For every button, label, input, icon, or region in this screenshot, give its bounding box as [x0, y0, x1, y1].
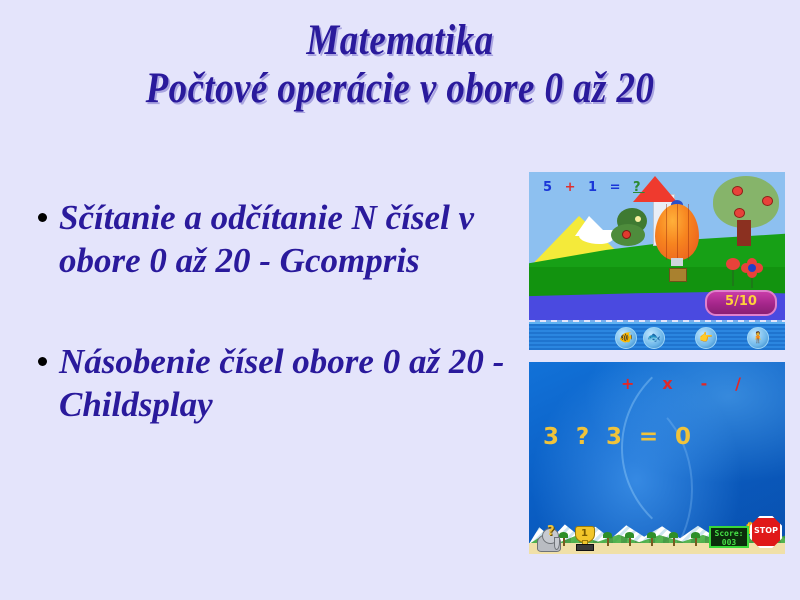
- equation-operand-b: 3: [606, 424, 622, 450]
- equation-operand-a: 5: [543, 180, 556, 195]
- palm-tree-icon: [691, 532, 700, 546]
- operator-multiply[interactable]: x: [662, 374, 672, 393]
- palm-tree-icon: [669, 532, 678, 546]
- equation-operand-b: 1: [588, 180, 601, 195]
- elephant-question-badge: ?: [547, 524, 555, 539]
- gcompris-toolbar[interactable]: 🐠 🐟 👉 🧍: [529, 322, 785, 350]
- bush-berry-icon: [622, 230, 631, 239]
- childsplay-ground-bar: ? 1 ✋ Score: 003 STOP: [529, 516, 785, 554]
- hand-icon[interactable]: 👉: [695, 327, 717, 349]
- equation-operator-slot[interactable]: ?: [576, 424, 589, 450]
- palm-tree-icon: [625, 532, 634, 546]
- hot-air-balloon-icon: [655, 204, 699, 260]
- apple-icon: [734, 208, 745, 218]
- title-line-1: Matematika: [56, 18, 744, 64]
- slide-title: Matematika Počtové operácie v obore 0 až…: [0, 18, 800, 111]
- bullet-text-1: Sčítanie a odčítanie N čísel v obore 0 a…: [59, 196, 508, 282]
- bush-highlight: [635, 216, 641, 222]
- apple-icon: [732, 186, 743, 196]
- trophy-icon[interactable]: 1: [571, 526, 597, 552]
- gcompris-score-badge: 5/10: [705, 290, 777, 316]
- elephant-icon[interactable]: ?: [535, 528, 561, 552]
- childsplay-equation: 3 ? 3 = 0: [543, 424, 691, 450]
- gcompris-equation: 5 + 1 = ?: [543, 180, 645, 195]
- bullet-text-2: Násobenie čísel obore 0 až 20 - Childspl…: [59, 340, 508, 426]
- flower-icon: [741, 258, 763, 278]
- childsplay-operator-row[interactable]: + x - /: [621, 374, 741, 393]
- help-icon[interactable]: 🧍: [747, 327, 769, 349]
- score-label: Score:: [711, 529, 747, 538]
- flower-stem: [732, 268, 734, 286]
- palm-tree-icon: [647, 532, 656, 546]
- operator-minus[interactable]: -: [701, 374, 708, 393]
- operator-plus[interactable]: +: [621, 374, 634, 393]
- bullet-list: Sčítanie a odčítanie N čísel v obore 0 a…: [38, 196, 508, 484]
- equation-equals-sign: =: [610, 180, 625, 195]
- equation-operator: +: [565, 180, 580, 195]
- trophy-rank-label: 1: [581, 528, 588, 539]
- clownfish-icon[interactable]: 🐠: [615, 327, 637, 349]
- operator-divide[interactable]: /: [735, 374, 741, 393]
- equation-operand-a: 3: [543, 424, 559, 450]
- apple-tree-trunk: [737, 220, 751, 246]
- equation-equals-sign: =: [639, 424, 658, 450]
- flower-icon: [726, 258, 740, 270]
- childsplay-screenshot-image: + x - / 3 ? 3 = 0: [529, 362, 785, 554]
- score-value: 003: [711, 538, 747, 547]
- title-line-2: Počtové operácie v obore 0 až 20: [56, 66, 744, 112]
- childsplay-score-display: Score: 003: [709, 526, 749, 548]
- bullet-dot-icon: [38, 213, 47, 222]
- bullet-dot-icon: [38, 357, 47, 366]
- apple-icon: [762, 196, 773, 206]
- balloon-neck: [671, 258, 683, 266]
- list-item: Sčítanie a odčítanie N čísel v obore 0 a…: [38, 196, 508, 282]
- list-item: Násobenie čísel obore 0 až 20 - Childspl…: [38, 340, 508, 426]
- equation-result: 0: [675, 424, 691, 450]
- balloon-basket: [669, 268, 687, 282]
- gcompris-screenshot-image: 5 + 1 = ?: [529, 172, 785, 350]
- fish-icon[interactable]: 🐟: [643, 327, 665, 349]
- palm-tree-icon: [603, 532, 612, 546]
- equation-result-placeholder: ?: [633, 180, 645, 195]
- trophy-base: [576, 544, 594, 551]
- presentation-slide: Matematika Počtové operácie v obore 0 až…: [0, 0, 800, 600]
